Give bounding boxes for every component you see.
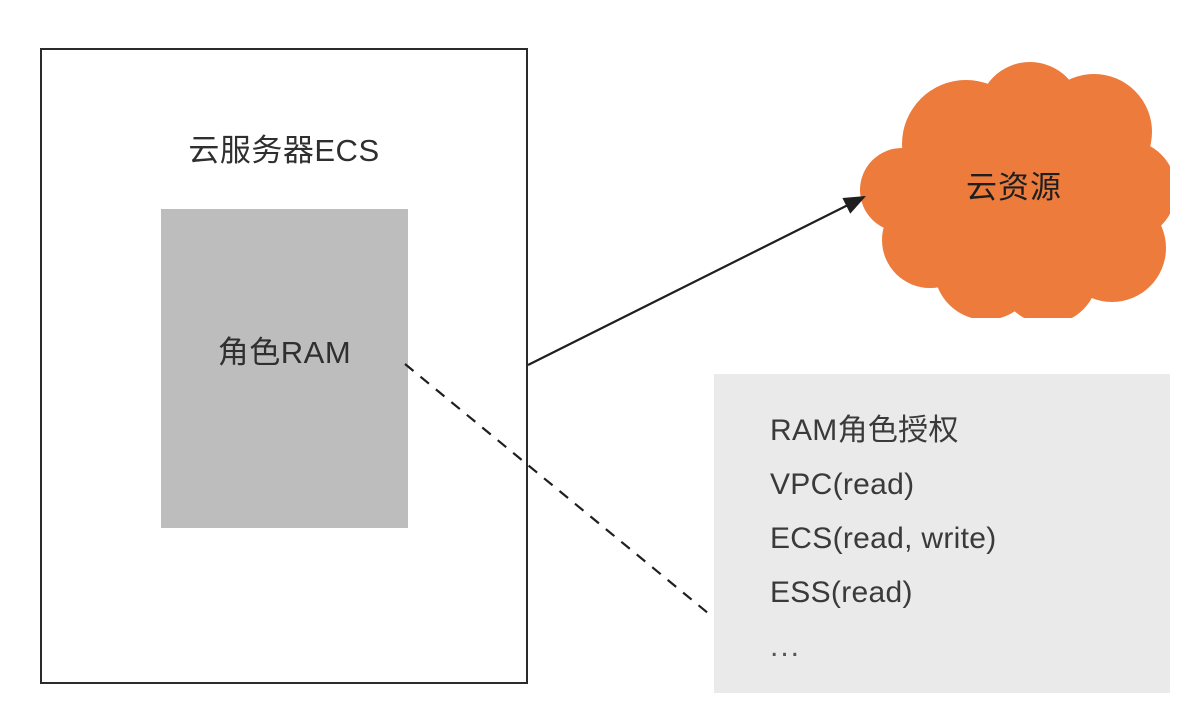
- permission-line-title: RAM角色授权: [770, 404, 1160, 458]
- ram-role-label: 角色RAM: [161, 333, 408, 373]
- permissions-list: RAM角色授权 VPC(read) ECS(read, write) ESS(r…: [770, 404, 1160, 674]
- permission-line-ess: ESS(read): [770, 566, 1160, 620]
- permission-line-vpc: VPC(read): [770, 458, 1160, 512]
- ecs-title-label: 云服务器ECS: [40, 131, 528, 171]
- role-to-cloud-arrow: [528, 197, 864, 365]
- permission-line-more: ...: [770, 620, 1160, 674]
- diagram-canvas: 云服务器ECS 角色RAM 云资源: [0, 0, 1199, 705]
- cloud-icon: [858, 62, 1170, 318]
- permission-line-ecs: ECS(read, write): [770, 512, 1160, 566]
